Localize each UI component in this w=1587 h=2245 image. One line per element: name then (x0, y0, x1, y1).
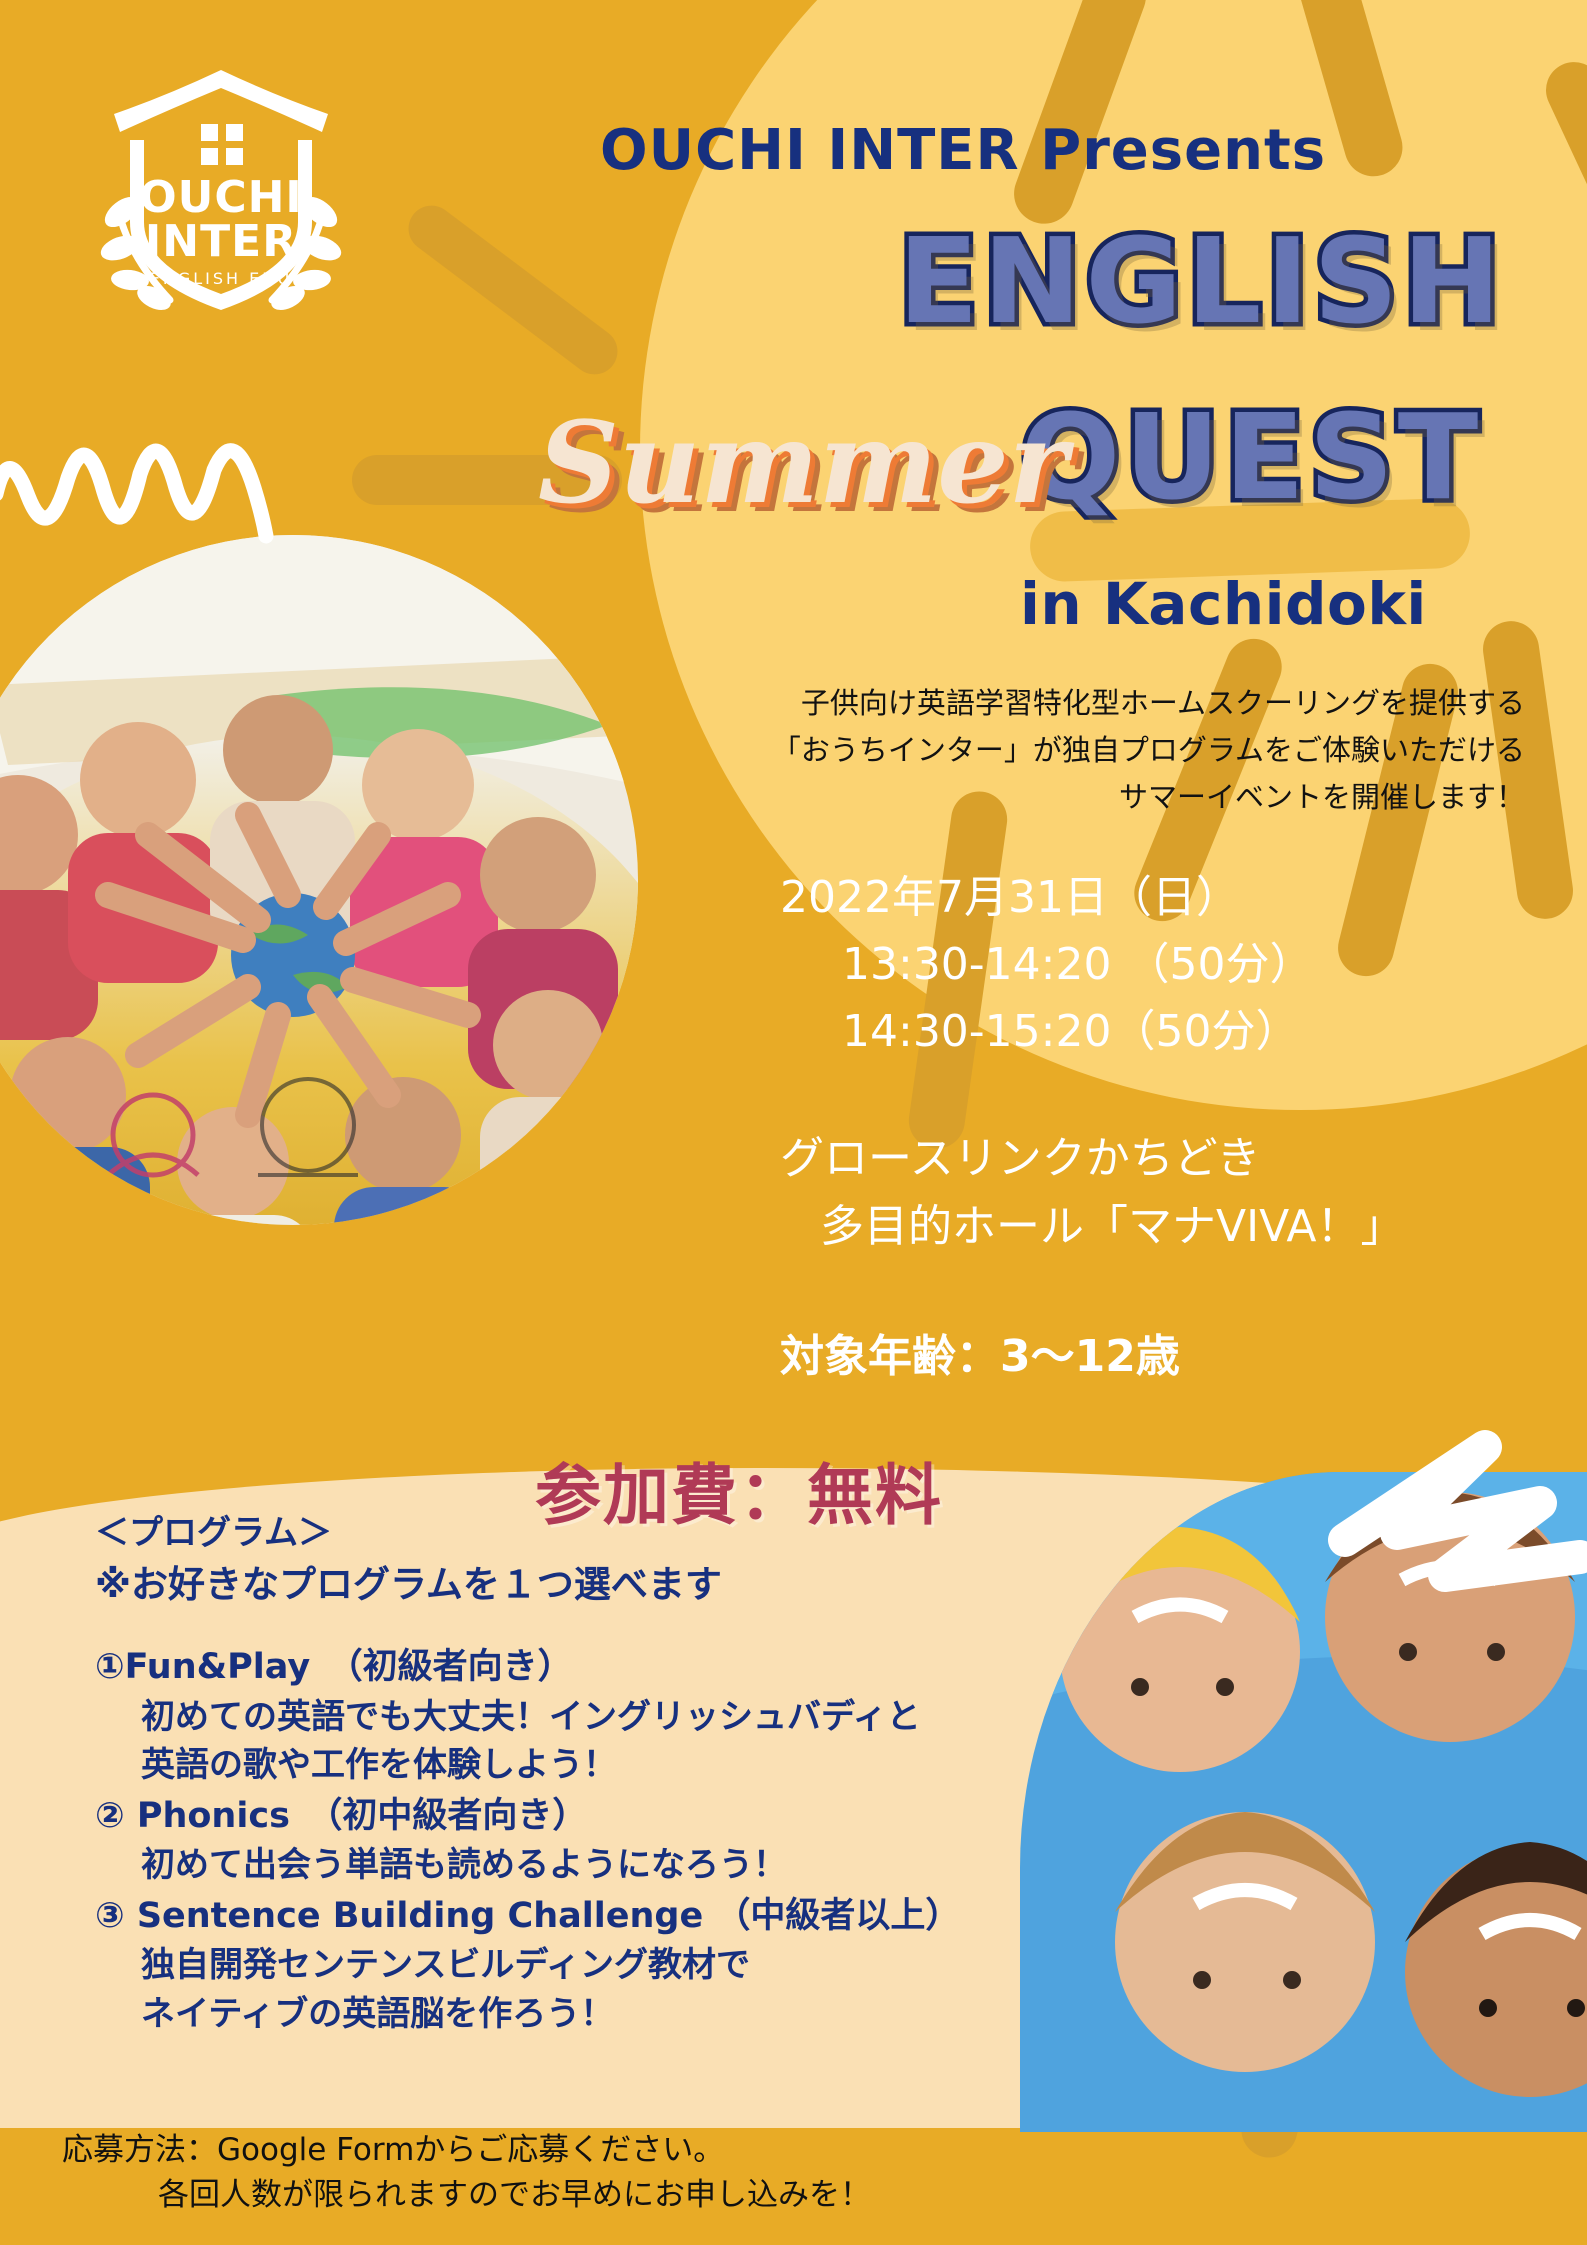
program-item: ③ Sentence Building Challenge （中級者以上） 独自… (95, 1892, 1055, 2038)
lede-line-3: サマーイベントを開催します！ (735, 774, 1525, 821)
ouchi-inter-logo: OUCHI INTER ENGLISH EDU (96, 52, 346, 312)
squiggle-icon (1335, 1425, 1585, 1630)
session-2-time: 14:30-15:20（50分） (780, 999, 1520, 1066)
lede-line-2: 「おうちインター」が独自プログラムをご体験いただける (735, 727, 1525, 774)
program-item-desc: ネイティブの英語脳を作ろう！ (95, 1990, 1055, 2038)
summer-front-text: Summer (538, 398, 1075, 529)
program-item: ①Fun&Play （初級者向き） 初めての英語でも大丈夫！イングリッシュバディ… (95, 1643, 1055, 1789)
logo-line3: ENGLISH EDU (150, 269, 293, 288)
lede-paragraph: 子供向け英語学習特化型ホームスクーリングを提供する 「おうちインター」が独自プロ… (735, 680, 1525, 821)
program-item-title: ①Fun&Play （初級者向き） (95, 1643, 1055, 1693)
program-item-desc: 英語の歌や工作を体験しよう！ (95, 1741, 1055, 1789)
program-item: ② Phonics （初中級者向き） 初めて出会う単語も読めるようになろう！ (95, 1792, 1055, 1890)
venue-block: グロースリンクかちどき 多目的ホール「マナVIVA！」 (780, 1125, 1540, 1261)
shield-house-icon: OUCHI INTER ENGLISH EDU (96, 52, 346, 312)
schedule-block: 2022年7月31日（日） 13:30-14:20 （50分） 14:30-15… (780, 865, 1520, 1066)
lede-line-1: 子供向け英語学習特化型ホームスクーリングを提供する (735, 680, 1525, 727)
title-quest: QUEST (1020, 388, 1482, 526)
children-globe-photo (0, 535, 638, 1225)
venue-line-2: 多目的ホール「マナVIVA！」 (780, 1193, 1540, 1261)
application-method: 応募方法：Google Formからご応募ください。 (62, 2128, 1162, 2173)
poster: OUCHI INTER ENGLISH EDU OUCHI INTER Pres… (0, 0, 1587, 2245)
venue-line-1: グロースリンクかちどき (780, 1125, 1540, 1193)
title-subtitle: in Kachidoki (1020, 570, 1427, 638)
application-info: 応募方法：Google Formからご応募ください。 各回人数が限られますのでお… (62, 2128, 1162, 2218)
title-english: ENGLISH (898, 212, 1505, 350)
program-item-title: ② Phonics （初中級者向き） (95, 1792, 1055, 1842)
event-date: 2022年7月31日（日） (780, 865, 1520, 932)
bar-decoration (399, 196, 626, 383)
program-block: ＜プログラム＞ ※お好きなプログラムを１つ選べます ①Fun&Play （初級者… (95, 1512, 1055, 2040)
presents-line: OUCHI INTER Presents (600, 118, 1326, 183)
target-age: 対象年齢：3〜12歳 (780, 1320, 1180, 1384)
program-list: ①Fun&Play （初級者向き） 初めての英語でも大丈夫！イングリッシュバディ… (95, 1643, 1055, 2037)
program-item-desc: 独自開発センテンスビルディング教材で (95, 1941, 1055, 1989)
program-heading: ＜プログラム＞ (95, 1512, 1055, 1556)
logo-line2: INTER (145, 216, 297, 267)
title-summer: Summer Summer Summer (520, 390, 1040, 540)
program-item-title: ③ Sentence Building Challenge （中級者以上） (95, 1892, 1055, 1942)
squiggle-icon (0, 430, 280, 540)
session-1-time: 13:30-14:20 （50分） (780, 932, 1520, 999)
program-item-desc: 初めての英語でも大丈夫！イングリッシュバディと (95, 1693, 1055, 1741)
application-note: 各回人数が限られますのでお早めにお申し込みを！ (62, 2173, 1162, 2218)
program-item-desc: 初めて出会う単語も読めるようになろう！ (95, 1841, 1055, 1889)
program-note: ※お好きなプログラムを１つ選べます (95, 1560, 1055, 1610)
